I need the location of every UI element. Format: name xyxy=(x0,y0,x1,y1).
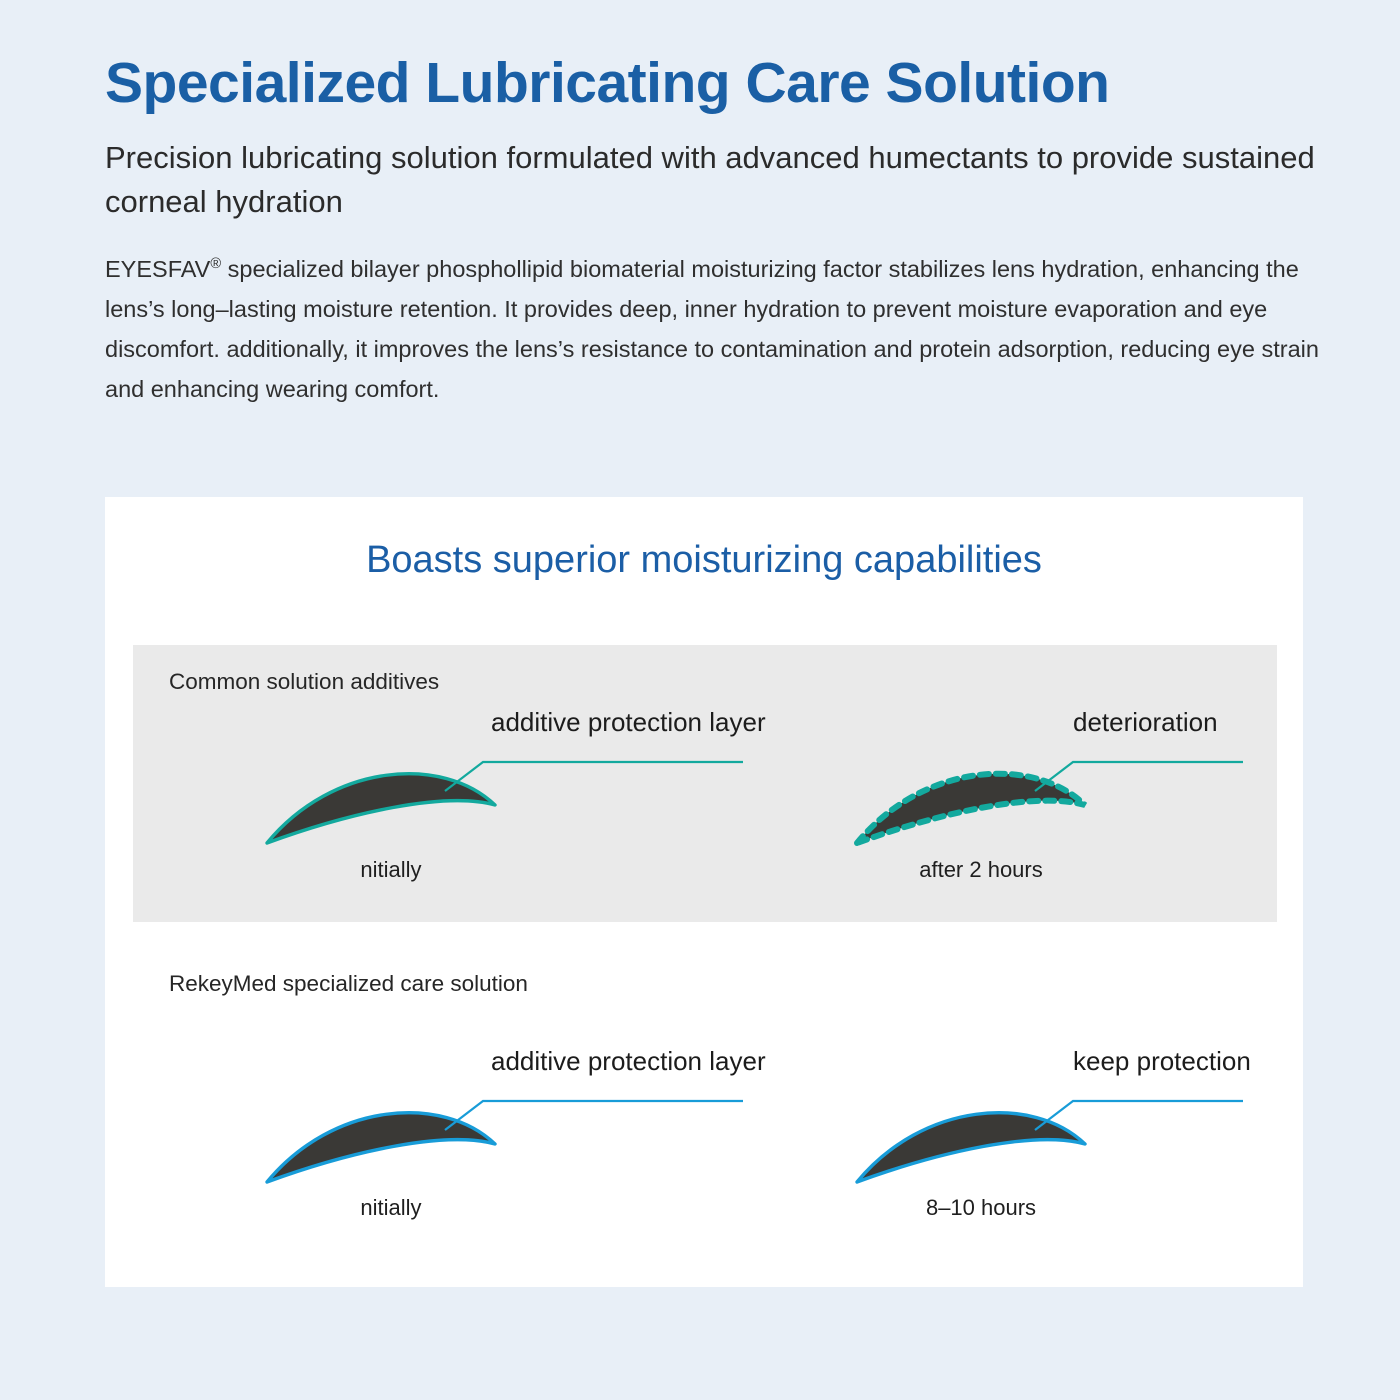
diagram-common-after: deterioration after 2 hours xyxy=(773,645,1273,922)
diagram-rekey-after: keep protection 8–10 hours xyxy=(773,947,1273,1257)
panel-common-additives: Common solution additives additive prote… xyxy=(133,645,1277,922)
page-body-paragraph: EYESFAV® specialized bilayer phosphollip… xyxy=(105,250,1330,410)
page-header: Specialized Lubricating Care Solution Pr… xyxy=(105,52,1340,410)
card-heading: Boasts superior moisturizing capabilitie… xyxy=(105,539,1303,582)
body-text: specialized bilayer phosphollipid biomat… xyxy=(105,256,1319,402)
brand-name: EYESFAV xyxy=(105,256,210,282)
diagram-rekey-initial: additive protection layer nitially xyxy=(183,947,743,1257)
page-root: Specialized Lubricating Care Solution Pr… xyxy=(0,0,1400,1400)
time-label-rekey-initial: nitially xyxy=(291,1195,491,1221)
time-label-common-after: after 2 hours xyxy=(871,857,1091,883)
callout-deterioration: deterioration xyxy=(1073,707,1218,738)
panel-rekeymed-solution: RekeyMed specialized care solution addit… xyxy=(133,947,1277,1257)
time-label-rekey-after: 8–10 hours xyxy=(871,1195,1091,1221)
time-label-common-initial: nitially xyxy=(291,857,491,883)
page-title: Specialized Lubricating Care Solution xyxy=(105,52,1340,116)
diagram-common-initial: additive protection layer nitially xyxy=(183,645,743,922)
callout-keep-protection: keep protection xyxy=(1073,1046,1251,1077)
callout-additive-protection-layer-common: additive protection layer xyxy=(491,707,766,738)
comparison-card: Boasts superior moisturizing capabilitie… xyxy=(105,497,1303,1287)
page-subtitle: Precision lubricating solution formulate… xyxy=(105,136,1340,224)
callout-additive-protection-layer-rekey: additive protection layer xyxy=(491,1046,766,1077)
registered-trademark-icon: ® xyxy=(210,256,221,272)
